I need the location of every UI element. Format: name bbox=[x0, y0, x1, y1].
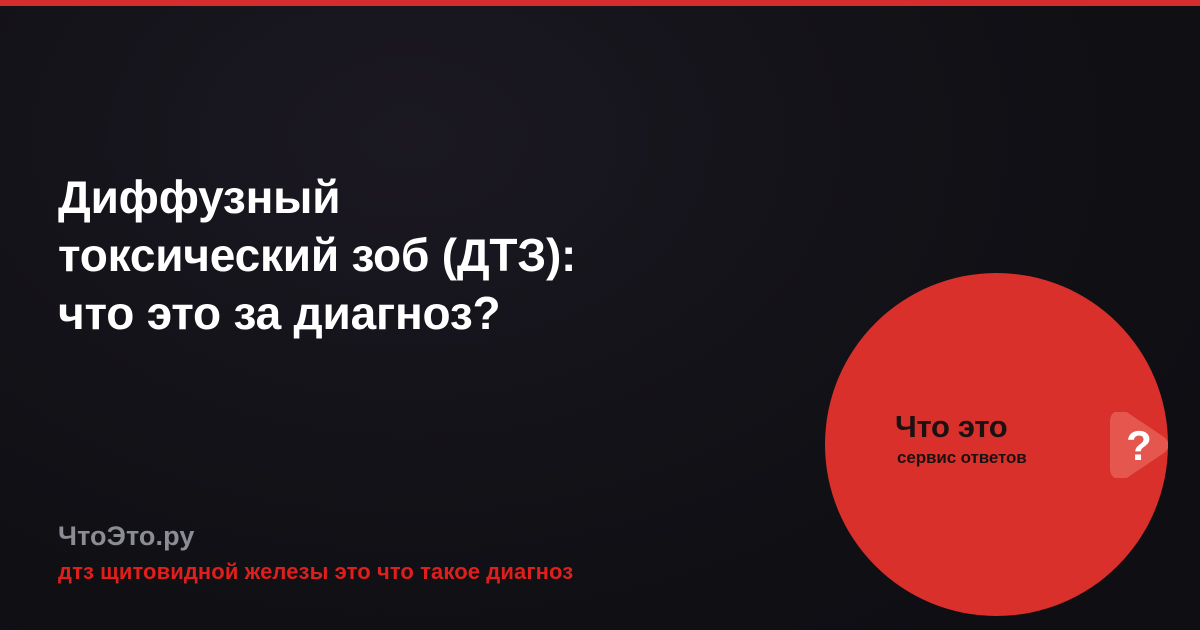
share-card: Диффузный токсический зоб (ДТЗ): что это… bbox=[0, 0, 1200, 630]
site-name: ЧтоЭто.ру bbox=[58, 520, 778, 552]
logo-badge: Что это сервис ответов ? bbox=[825, 273, 1168, 616]
question-mark-icon: ? bbox=[1122, 421, 1156, 471]
top-accent-bar bbox=[0, 0, 1200, 6]
page-title: Диффузный токсический зоб (ДТЗ): что это… bbox=[58, 168, 758, 342]
logo-subtitle: сервис ответов bbox=[897, 447, 1027, 469]
logo-lockup: Что это сервис ответов ? bbox=[895, 409, 1115, 481]
logo-title: Что это bbox=[895, 409, 1007, 445]
footer-block: ЧтоЭто.ру дтз щитовидной железы это что … bbox=[58, 520, 778, 586]
keywords-line: дтз щитовидной железы это что такое диаг… bbox=[58, 558, 778, 586]
